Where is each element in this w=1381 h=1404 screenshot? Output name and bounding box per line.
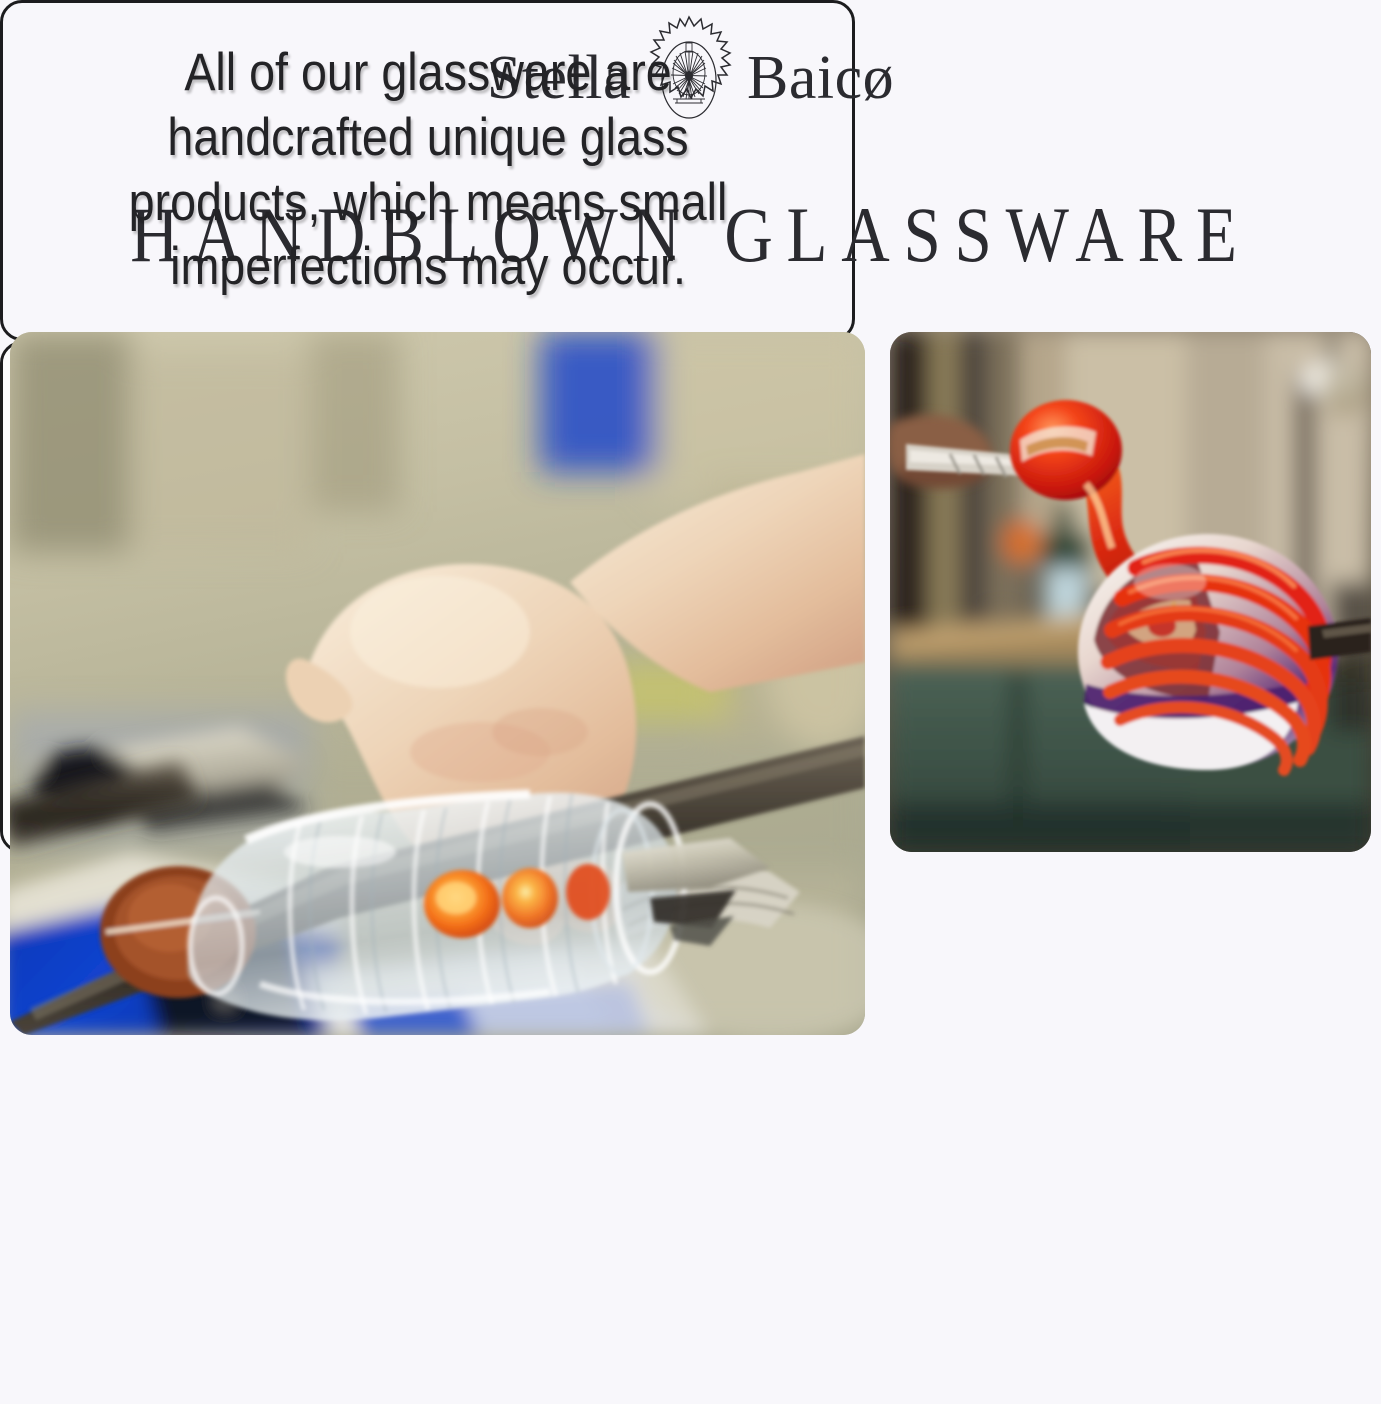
photo-molten-glass-image: [890, 332, 1371, 852]
brand-word-baico: Baicø: [747, 47, 894, 113]
photo-glassblowing-main: [10, 332, 865, 1035]
photo-glassblowing-main-image: [10, 332, 865, 1035]
photo-molten-glass: [890, 332, 1371, 852]
imperfections-callout-box: All of our glassware are handcrafted uni…: [0, 0, 855, 341]
imperfections-callout-text: All of our glassware are handcrafted uni…: [120, 41, 736, 300]
